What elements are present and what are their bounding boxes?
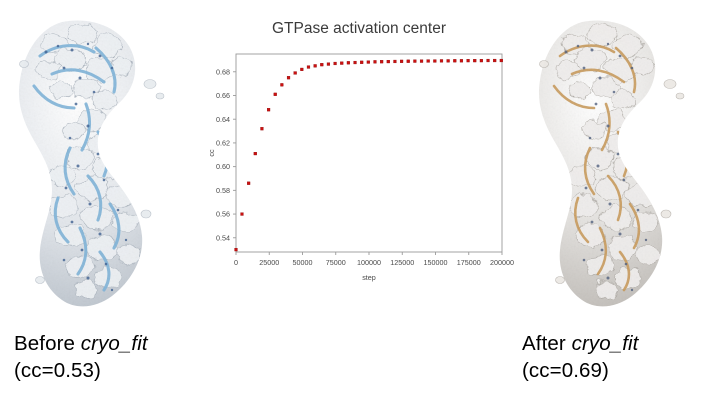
data-point bbox=[287, 76, 290, 79]
x-tick-label: 75000 bbox=[326, 258, 346, 267]
caption-before-value: (cc=0.53) bbox=[14, 357, 148, 384]
before-structure-svg bbox=[0, 8, 200, 318]
data-point bbox=[467, 59, 470, 62]
data-point bbox=[400, 60, 403, 63]
data-point bbox=[487, 59, 490, 62]
data-point bbox=[354, 61, 357, 64]
data-point bbox=[387, 60, 390, 63]
y-tick-label: 0.60 bbox=[216, 162, 230, 171]
data-point bbox=[420, 60, 423, 63]
density-surface-after bbox=[518, 8, 718, 318]
data-point bbox=[334, 62, 337, 65]
y-tick-label: 0.58 bbox=[216, 186, 230, 195]
y-axis-ticks: 0.540.560.580.600.620.640.660.68 bbox=[216, 67, 236, 242]
data-point bbox=[433, 60, 436, 63]
x-tick-label: 50000 bbox=[293, 258, 313, 267]
data-point bbox=[374, 60, 377, 63]
plot-frame bbox=[236, 54, 502, 252]
data-point bbox=[380, 60, 383, 63]
data-point bbox=[427, 60, 430, 63]
data-point bbox=[241, 213, 244, 216]
data-point bbox=[447, 59, 450, 62]
y-tick-label: 0.66 bbox=[216, 91, 230, 100]
caption-before: Before cryo_fit (cc=0.53) bbox=[14, 330, 148, 385]
caption-before-prefix: Before bbox=[14, 332, 81, 355]
y-tick-label: 0.54 bbox=[216, 233, 230, 242]
data-point bbox=[460, 59, 463, 62]
x-tick-label: 175000 bbox=[457, 258, 481, 267]
data-point bbox=[413, 60, 416, 63]
data-point bbox=[280, 83, 283, 86]
data-point bbox=[394, 60, 397, 63]
data-point bbox=[347, 61, 350, 64]
x-axis-ticks: 0250005000075000100000125000150000175000… bbox=[234, 252, 514, 267]
caption-after-emphasis: cryo_fit bbox=[572, 332, 639, 355]
x-axis-label: step bbox=[362, 273, 376, 282]
data-point bbox=[314, 64, 317, 67]
data-point bbox=[360, 61, 363, 64]
data-point bbox=[473, 59, 476, 62]
data-point bbox=[320, 63, 323, 66]
data-point bbox=[300, 68, 303, 71]
data-point bbox=[453, 59, 456, 62]
data-point bbox=[340, 62, 343, 65]
density-surface-before bbox=[0, 8, 200, 318]
data-point bbox=[407, 60, 410, 63]
caption-after-prefix: After bbox=[522, 332, 572, 355]
caption-after-line1: After cryo_fit bbox=[522, 330, 638, 357]
data-point bbox=[235, 248, 238, 251]
data-point bbox=[440, 59, 443, 62]
x-tick-label: 200000 bbox=[490, 258, 514, 267]
data-point bbox=[493, 59, 496, 62]
data-point bbox=[254, 152, 257, 155]
convergence-chart: GTPase activation center 0.540.560.580.6… bbox=[204, 12, 514, 302]
data-point bbox=[247, 182, 250, 185]
caption-after: After cryo_fit (cc=0.69) bbox=[522, 330, 638, 385]
data-point bbox=[307, 66, 310, 69]
y-tick-label: 0.62 bbox=[216, 139, 230, 148]
structure-render-after bbox=[518, 8, 718, 318]
data-point bbox=[274, 93, 277, 96]
caption-before-emphasis: cryo_fit bbox=[81, 332, 148, 355]
data-point bbox=[480, 59, 483, 62]
data-point bbox=[261, 127, 264, 130]
y-axis-label: cc bbox=[207, 149, 216, 157]
data-point bbox=[327, 63, 330, 66]
y-tick-label: 0.64 bbox=[216, 115, 230, 124]
data-point bbox=[294, 72, 297, 75]
y-tick-label: 0.68 bbox=[216, 67, 230, 76]
plot-area: 0.540.560.580.600.620.640.660.68 0250005… bbox=[204, 44, 514, 292]
data-point bbox=[367, 61, 370, 64]
chart-title: GTPase activation center bbox=[204, 20, 514, 38]
after-structure-svg bbox=[518, 8, 718, 318]
x-tick-label: 0 bbox=[234, 258, 238, 267]
caption-after-value: (cc=0.69) bbox=[522, 357, 638, 384]
data-point bbox=[500, 59, 503, 62]
x-tick-label: 125000 bbox=[390, 258, 414, 267]
x-tick-label: 150000 bbox=[424, 258, 448, 267]
y-tick-label: 0.56 bbox=[216, 210, 230, 219]
x-tick-label: 100000 bbox=[357, 258, 381, 267]
structure-render-before bbox=[0, 8, 200, 318]
x-tick-label: 25000 bbox=[259, 258, 279, 267]
plot-svg: 0.540.560.580.600.620.640.660.68 0250005… bbox=[204, 44, 514, 292]
caption-before-line1: Before cryo_fit bbox=[14, 330, 148, 357]
data-point bbox=[267, 108, 270, 111]
